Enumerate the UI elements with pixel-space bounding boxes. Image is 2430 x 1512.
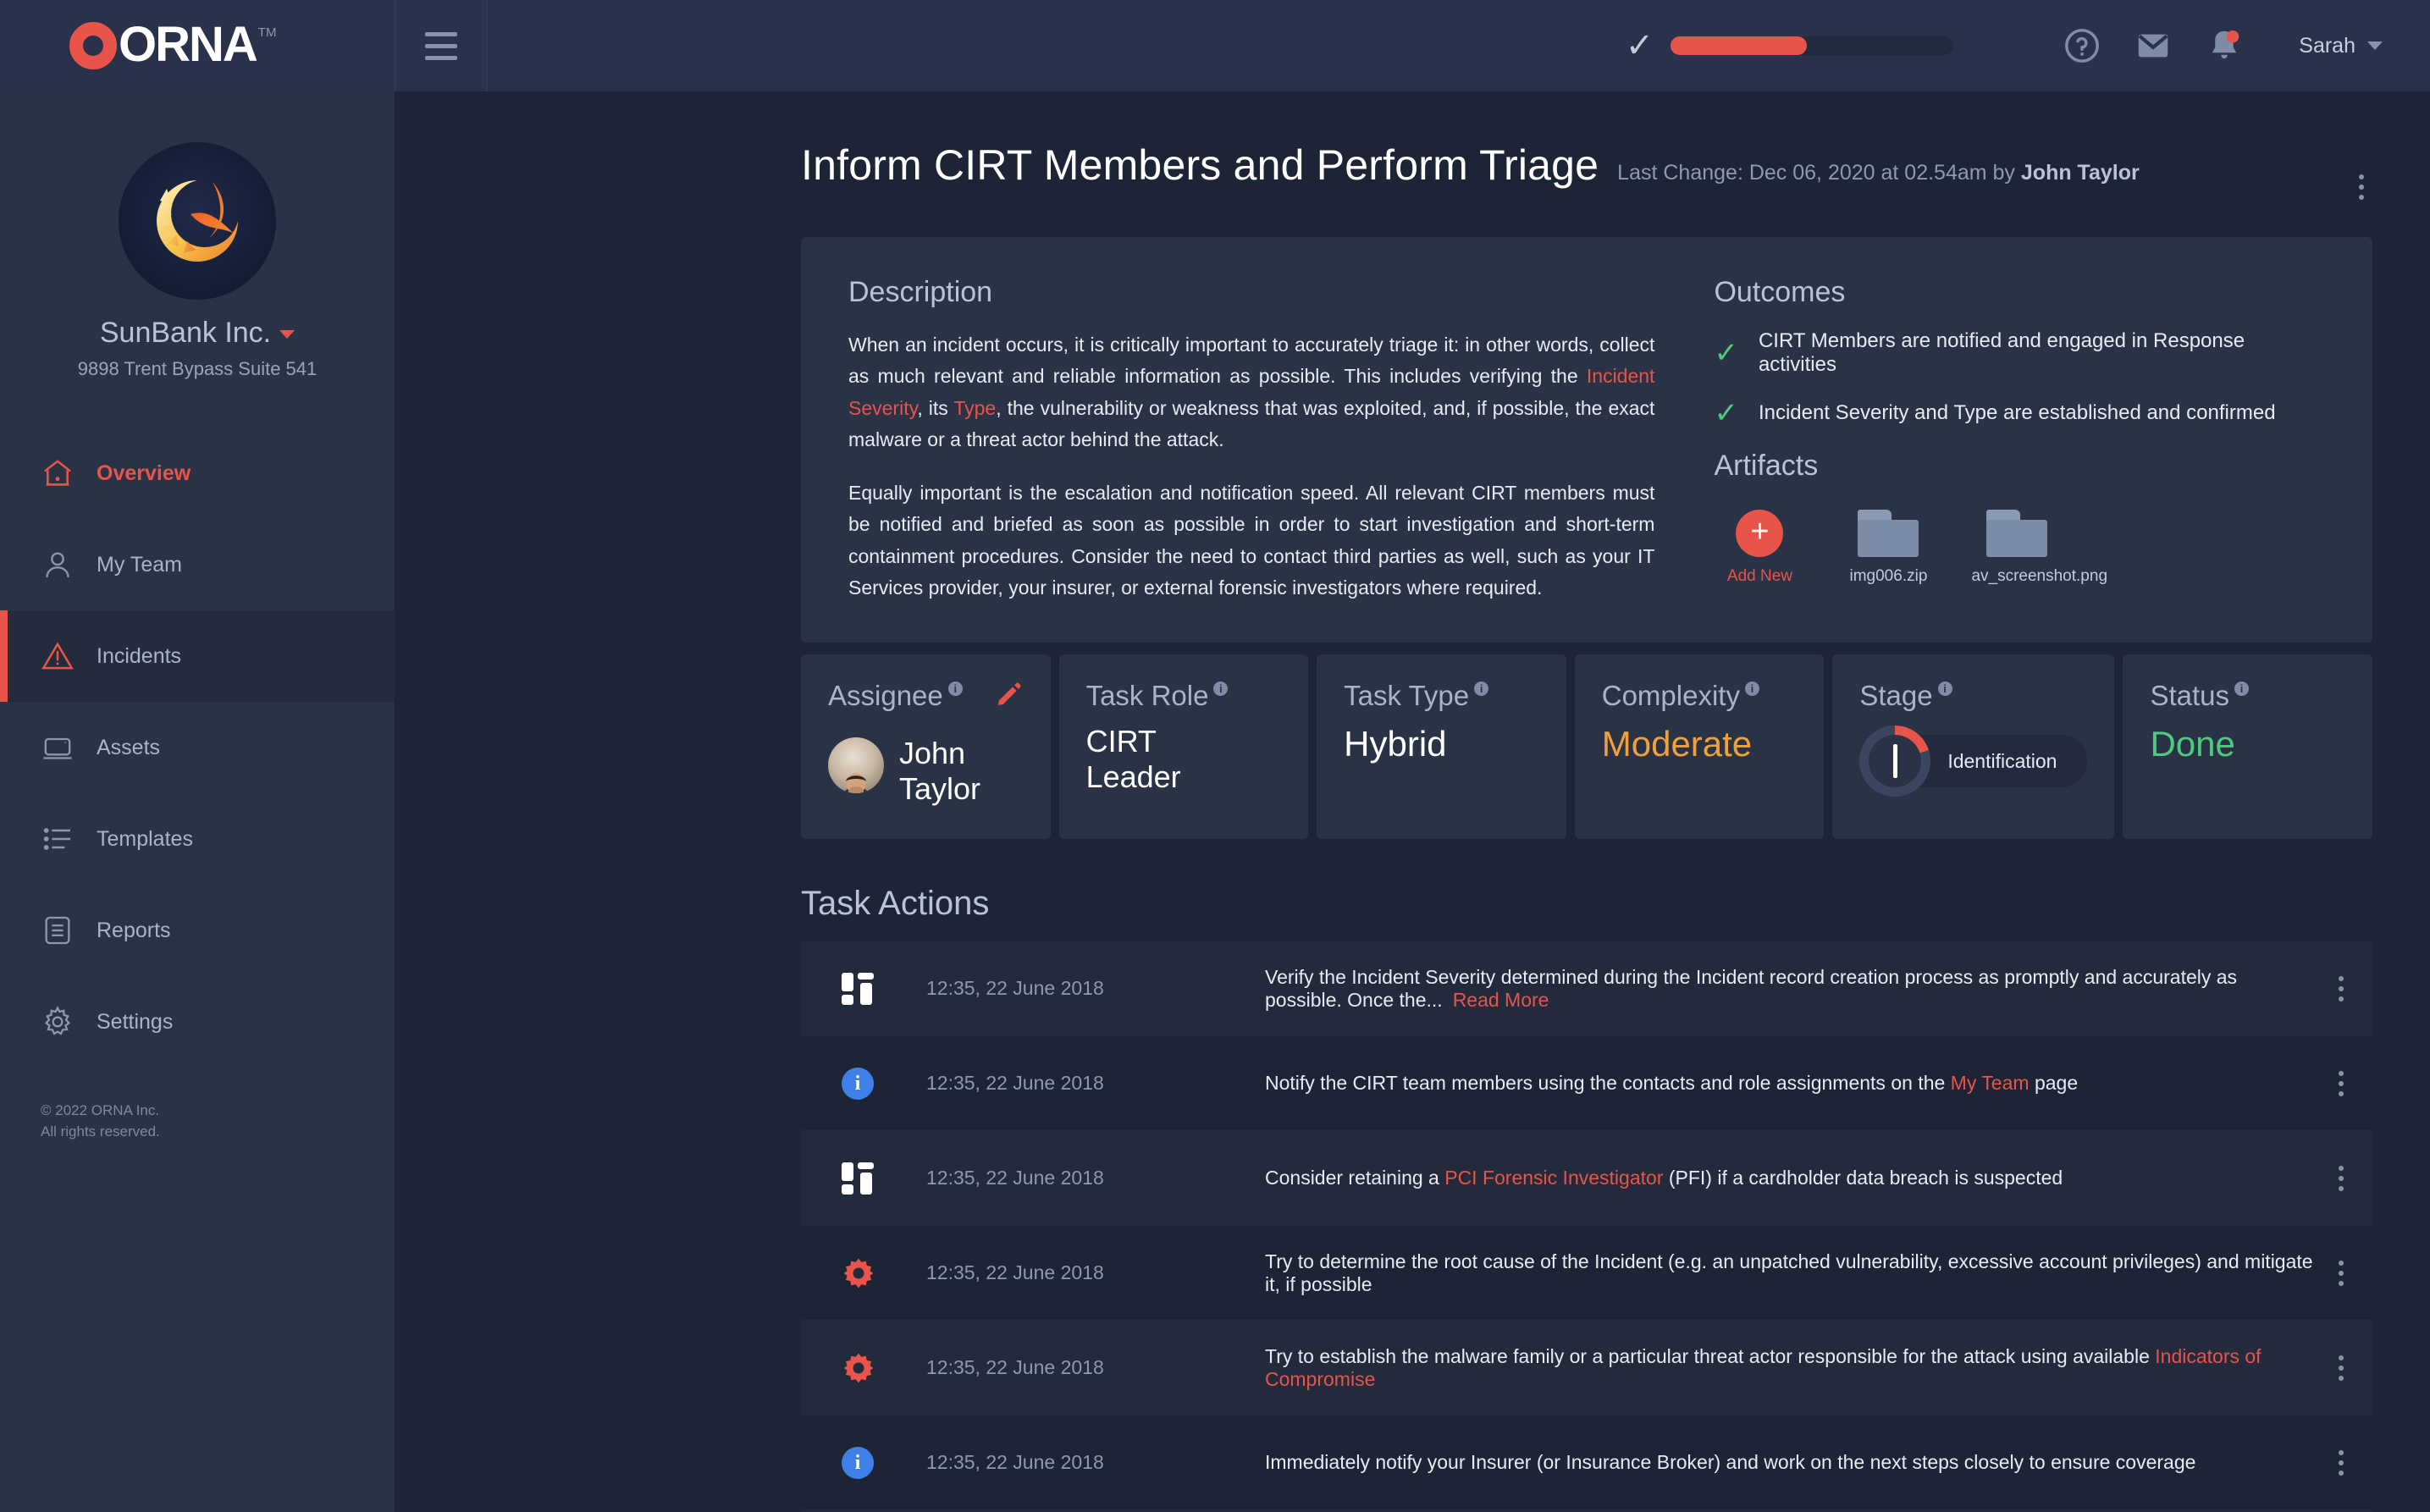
folder-icon (1858, 510, 1919, 557)
task-action-kebab-icon[interactable] (2317, 976, 2344, 1002)
user-name-label: Sarah (2299, 34, 2355, 58)
read-more-link[interactable]: Read More (1453, 989, 1549, 1011)
topbar: ✓ (395, 0, 2430, 91)
sidebar-item-assets[interactable]: Assets (0, 702, 395, 793)
help-icon[interactable] (2046, 26, 2118, 65)
assignee-name: John Taylor (899, 736, 980, 808)
topbar-right-group: ✓ (1626, 26, 2430, 65)
artifacts-heading: Artifacts (1714, 450, 2325, 483)
card-task-type[interactable]: Task Type i Hybrid (1317, 654, 1566, 839)
page-title: Inform CIRT Members and Perform Triage (801, 141, 1599, 190)
organization-name[interactable]: SunBank Inc. (0, 317, 395, 350)
card-task-type-header: Task Type i (1344, 680, 1539, 712)
task-action-link[interactable]: Indicators of Compromise (1265, 1345, 2262, 1390)
task-action-timestamp: 12:35, 22 June 2018 (926, 977, 1265, 1000)
card-stage[interactable]: Stage i Identification (1832, 654, 2114, 839)
sidebar: ORNA TM (0, 0, 395, 1512)
complexity-value: Moderate (1602, 724, 1798, 764)
artifact-filename: av_screenshot.png (1971, 567, 2063, 586)
card-assignee-label: Assignee (828, 680, 943, 712)
organization-avatar (119, 142, 276, 300)
last-change-text: Last Change: Dec 06, 2020 at 02.54am by (1617, 161, 2021, 185)
app-root: ORNA TM (0, 0, 2430, 1512)
organization-address: 9898 Trent Bypass Suite 541 (0, 358, 395, 380)
sidebar-item-label: Assets (97, 736, 160, 760)
blocks-icon (842, 1162, 874, 1195)
stage-progress-ring (1859, 726, 1930, 797)
task-action-timestamp: 12:35, 22 June 2018 (926, 1451, 1265, 1474)
copyright-line-2: All rights reserved. (41, 1122, 160, 1143)
desc-text-b: , its (917, 397, 953, 419)
card-task-role[interactable]: Task Role i CIRT Leader (1059, 654, 1309, 839)
chevron-down-icon (279, 330, 295, 339)
check-icon: ✓ (1714, 339, 1738, 367)
mail-icon[interactable] (2118, 26, 2189, 65)
artifacts-list: + Add New img006.zip av_screenshot.png (1714, 503, 2325, 586)
folder-icon (1986, 510, 2047, 557)
progress-fill (1671, 36, 1806, 55)
task-actions-heading: Task Actions (801, 885, 2372, 923)
card-task-role-label: Task Role (1086, 680, 1209, 712)
chevron-down-icon (2367, 41, 2383, 50)
card-assignee[interactable]: Assignee i (801, 654, 1051, 839)
task-action-row[interactable]: i12:35, 22 June 2018Immediately notify y… (801, 1415, 2372, 1510)
task-role-value: CIRT Leader (1086, 724, 1282, 796)
info-icon[interactable]: i (1938, 682, 1952, 696)
task-action-row[interactable]: 12:35, 22 June 2018Try to establish the … (801, 1321, 2372, 1415)
outcome-item: ✓ CIRT Members are notified and engaged … (1714, 329, 2325, 377)
task-action-link[interactable]: PCI Forensic Investigator (1444, 1167, 1663, 1189)
card-stage-label: Stage (1859, 680, 1932, 712)
brand-logo[interactable]: ORNA TM (0, 0, 395, 91)
task-action-timestamp: 12:35, 22 June 2018 (926, 1072, 1265, 1095)
sidebar-item-my-team[interactable]: My Team (0, 519, 395, 610)
task-action-text: Verify the Incident Severity determined … (1265, 966, 2317, 1012)
warning-triangle-icon (41, 639, 97, 673)
description-paragraph-1: When an incident occurs, it is criticall… (848, 329, 1654, 455)
task-action-text: Consider retaining a PCI Forensic Invest… (1265, 1167, 2317, 1189)
list-icon (41, 822, 97, 856)
card-complexity-label: Complexity (1602, 680, 1740, 712)
task-meta-cards: Assignee i (801, 654, 2372, 839)
desc-text-a: When an incident occurs, it is criticall… (848, 334, 1654, 387)
sidebar-item-reports[interactable]: Reports (0, 885, 395, 976)
user-menu[interactable]: Sarah (2299, 34, 2383, 58)
last-change-meta: Last Change: Dec 06, 2020 at 02.54am by … (1617, 161, 2140, 185)
task-type-value: Hybrid (1344, 724, 1539, 764)
outcome-label: CIRT Members are notified and engaged in… (1759, 329, 2325, 377)
card-status-header: Status i (2150, 680, 2345, 712)
sidebar-item-label: Templates (97, 827, 193, 852)
home-icon (41, 456, 97, 490)
sidebar-item-incidents[interactable]: Incidents (0, 610, 395, 702)
task-action-kebab-icon[interactable] (2317, 1450, 2344, 1476)
avatar (828, 737, 884, 793)
card-task-role-header: Task Role i (1086, 680, 1282, 712)
outcome-item: ✓ Incident Severity and Type are establi… (1714, 399, 2325, 428)
card-status-label: Status (2150, 680, 2229, 712)
outcome-label: Incident Severity and Type are establish… (1759, 401, 2276, 425)
task-action-icon: i (842, 1447, 926, 1479)
copyright-line-1: © 2022 ORNA Inc. (41, 1101, 160, 1122)
brand-name: ORNA (119, 22, 257, 68)
task-action-icon (842, 973, 926, 1005)
sidebar-item-templates[interactable]: Templates (0, 793, 395, 885)
stage-value: Identification (1912, 735, 2087, 787)
outcomes-artifacts-section: Outcomes ✓ CIRT Members are notified and… (1714, 276, 2325, 604)
sidebar-item-label: My Team (97, 553, 182, 577)
gear-icon (41, 1005, 97, 1039)
task-action-row[interactable]: 12:35, 22 June 2018Verify the Incident S… (801, 941, 2372, 1036)
card-complexity-header: Complexity i (1602, 680, 1798, 712)
task-action-text: Immediately notify your Insurer (or Insu… (1265, 1451, 2317, 1474)
main-area: ✓ (395, 0, 2430, 1512)
sidebar-item-label: Reports (97, 919, 171, 943)
sidebar-item-label: Overview (97, 461, 191, 486)
plus-icon: + (1736, 510, 1783, 557)
description-paragraph-2: Equally important is the escalation and … (848, 477, 1654, 604)
sidebar-copyright: © 2022 ORNA Inc. All rights reserved. (41, 1101, 160, 1142)
task-action-icon: i (842, 1068, 926, 1100)
task-action-timestamp: 12:35, 22 June 2018 (926, 1167, 1265, 1189)
task-action-text: Notify the CIRT team members using the c… (1265, 1072, 2317, 1095)
artifact-item[interactable]: av_screenshot.png (1971, 503, 2063, 586)
user-icon (41, 548, 97, 582)
sun-logo-icon (146, 170, 248, 272)
task-action-text: Try to establish the malware family or a… (1265, 1345, 2317, 1391)
task-action-icon (842, 1256, 926, 1290)
task-action-icon (842, 1351, 926, 1385)
info-icon[interactable]: i (1213, 682, 1228, 696)
gear-icon (842, 1351, 875, 1385)
info-icon[interactable]: i (1474, 682, 1488, 696)
task-action-link[interactable]: My Team (1951, 1072, 2030, 1094)
add-artifact-button[interactable]: + Add New (1714, 503, 1805, 586)
sidebar-item-overview[interactable]: Overview (0, 428, 395, 519)
card-complexity[interactable]: Complexity i Moderate (1575, 654, 1825, 839)
info-icon[interactable]: i (2234, 682, 2249, 696)
task-action-kebab-icon[interactable] (2317, 1166, 2344, 1191)
last-change-author: John Taylor (2021, 161, 2140, 185)
task-actions-list: 12:35, 22 June 2018Verify the Incident S… (801, 941, 2372, 1512)
description-section: Description When an incident occurs, it … (848, 276, 1654, 604)
task-action-kebab-icon[interactable] (2317, 1071, 2344, 1096)
info-icon[interactable]: i (1745, 682, 1759, 696)
card-task-type-label: Task Type (1344, 680, 1469, 712)
edit-pencil-icon[interactable] (995, 680, 1024, 715)
task-action-row[interactable]: i12:35, 22 June 2018Notify the CIRT team… (801, 1036, 2372, 1131)
task-action-row[interactable]: 12:35, 22 June 2018Consider retaining a … (801, 1131, 2372, 1226)
sidebar-item-settings[interactable]: Settings (0, 976, 395, 1068)
sidebar-nav: Overview My Team Incidents (0, 428, 395, 1068)
status-value: Done (2150, 724, 2345, 764)
description-heading: Description (848, 276, 1654, 309)
sidebar-item-label: Settings (97, 1010, 173, 1035)
assignee-value: John Taylor (828, 724, 1024, 808)
type-link[interactable]: Type (953, 397, 996, 419)
card-stage-header: Stage i (1859, 680, 2087, 712)
check-icon: ✓ (1626, 29, 1654, 63)
task-action-kebab-icon[interactable] (2317, 1261, 2344, 1286)
document-icon (41, 913, 97, 947)
add-artifact-label: Add New (1714, 567, 1805, 586)
task-action-row[interactable]: 12:35, 22 June 2018Try to determine the … (801, 1226, 2372, 1321)
sidebar-item-label: Incidents (97, 644, 181, 669)
info-icon: i (842, 1447, 874, 1479)
task-action-text: Try to determine the root cause of the I… (1265, 1250, 2317, 1296)
check-icon: ✓ (1714, 399, 1738, 428)
gear-icon (842, 1256, 875, 1290)
card-assignee-header: Assignee i (828, 680, 1024, 715)
trademark-mark: TM (258, 25, 277, 40)
hamburger-menu-icon[interactable] (395, 0, 488, 91)
bell-icon[interactable] (2189, 26, 2260, 65)
organization-block: SunBank Inc. 9898 Trent Bypass Suite 541 (0, 91, 395, 380)
progress-track[interactable] (1671, 36, 1953, 55)
artifact-item[interactable]: img006.zip (1842, 503, 1934, 586)
outcomes-heading: Outcomes (1714, 276, 2325, 309)
blocks-icon (842, 973, 874, 1005)
progress-indicator: ✓ (1626, 29, 1954, 63)
artifact-filename: img006.zip (1842, 567, 1934, 586)
laptop-icon (41, 731, 97, 764)
info-icon[interactable]: i (948, 682, 963, 696)
orna-ring-icon (69, 22, 117, 69)
overview-panel: Description When an incident occurs, it … (801, 237, 2372, 643)
task-action-kebab-icon[interactable] (2317, 1355, 2344, 1381)
card-status[interactable]: Status i Done (2123, 654, 2372, 839)
page-header: Inform CIRT Members and Perform Triage L… (801, 91, 2372, 200)
task-action-timestamp: 12:35, 22 June 2018 (926, 1356, 1265, 1379)
task-action-icon (842, 1162, 926, 1195)
page-options-kebab-icon[interactable] (2350, 174, 2372, 200)
task-action-timestamp: 12:35, 22 June 2018 (926, 1261, 1265, 1284)
stage-value-wrap: Identification (1859, 726, 2087, 797)
info-icon: i (842, 1068, 874, 1100)
